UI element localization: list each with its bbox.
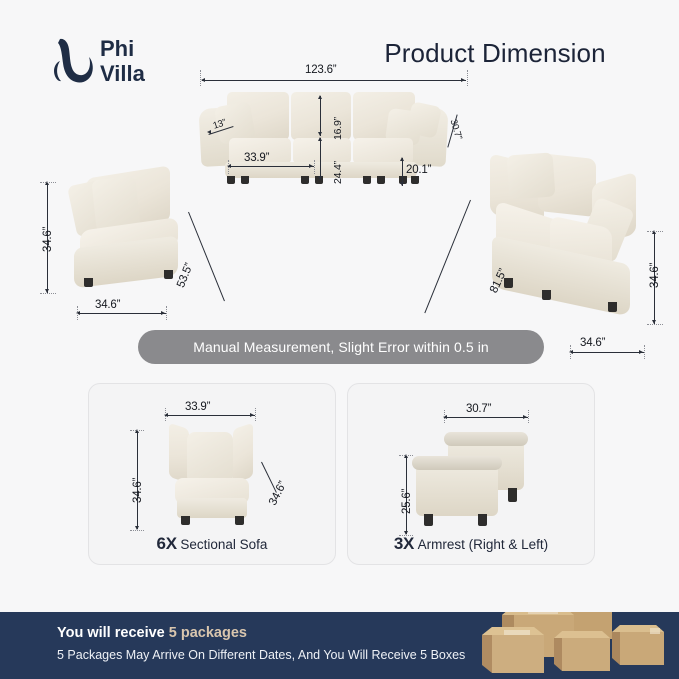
dim-overall-width: 123.6”: [305, 64, 336, 76]
packages-banner: You will receive 5 packages 5 Packages M…: [0, 612, 679, 679]
packages-count-highlight: 5 packages: [169, 625, 247, 641]
armrest-illustration: [414, 432, 534, 528]
dim-left-chair-width: 34.6”: [95, 299, 120, 311]
notice-text: Manual Measurement, Slight Error within …: [193, 339, 489, 355]
phivilla-swoosh-logo: Phi Villa: [52, 33, 182, 91]
card1-qty: 6X: [157, 534, 177, 553]
product-dimension-infographic: Phi Villa Product Dimension: [0, 0, 679, 679]
packages-headline-prefix: You will receive: [57, 625, 169, 641]
page-title: Product Dimension: [340, 38, 650, 69]
brand-logo: Phi Villa: [52, 33, 182, 91]
dim-line-card1-width: [165, 415, 255, 416]
packages-headline: You will receive 5 packages: [57, 625, 247, 641]
dim-line-card2-width: [444, 417, 528, 418]
sectional-sofa-illustration: [165, 426, 261, 524]
dim-line-total-back: [320, 138, 321, 180]
brand-name-line2: Villa: [100, 61, 146, 86]
dim-line-right-length: [424, 200, 471, 313]
card2-label: Armrest (Right & Left): [418, 537, 549, 552]
card2-qty: 3X: [394, 534, 414, 553]
ext-line: [467, 70, 468, 86]
cardboard-boxes-illustration: [478, 612, 673, 679]
dim-left-chair-height: 34.6”: [42, 227, 54, 252]
dim-seat-height: 20.1”: [406, 164, 431, 176]
brand-name-line1: Phi: [100, 36, 134, 61]
dim-line-left-chair-width: [77, 313, 166, 314]
dim-right-height: 34.6”: [649, 263, 661, 288]
component-card-armrest: 30.7” 25.6” 3X Armrest (Right & Left): [347, 383, 595, 565]
dim-seat-back-height: 16.9”: [332, 117, 344, 140]
dim-card1-width: 33.9”: [185, 401, 210, 413]
left-chair-illustration: [64, 170, 214, 296]
card1-caption: 6X Sectional Sofa: [89, 534, 335, 554]
card1-label: Sectional Sofa: [180, 537, 267, 552]
dim-line-overall-width: [202, 80, 466, 81]
component-card-sectional-sofa: 33.9” 34.6” 34.6” 6X Sectional Sofa: [88, 383, 336, 565]
dim-line-module-width: [228, 166, 314, 167]
card2-caption: 3X Armrest (Right & Left): [348, 534, 594, 554]
dim-seat-module-width: 33.9”: [244, 152, 269, 164]
dim-line-back-height: [320, 96, 321, 136]
dim-card2-height: 25.6”: [401, 489, 413, 514]
manual-measurement-notice: Manual Measurement, Slight Error within …: [138, 330, 544, 364]
dim-line-right-width: [570, 352, 644, 353]
right-section-illustration: [480, 150, 650, 318]
dim-back-total-height: 24.4”: [332, 161, 344, 184]
dim-card1-depth: 34.6”: [267, 480, 289, 508]
packages-subtext: 5 Packages May Arrive On Different Dates…: [57, 648, 465, 662]
dim-right-width: 34.6”: [580, 337, 605, 349]
dim-card1-height: 34.6”: [132, 478, 144, 503]
dim-card2-width: 30.7”: [466, 403, 491, 415]
